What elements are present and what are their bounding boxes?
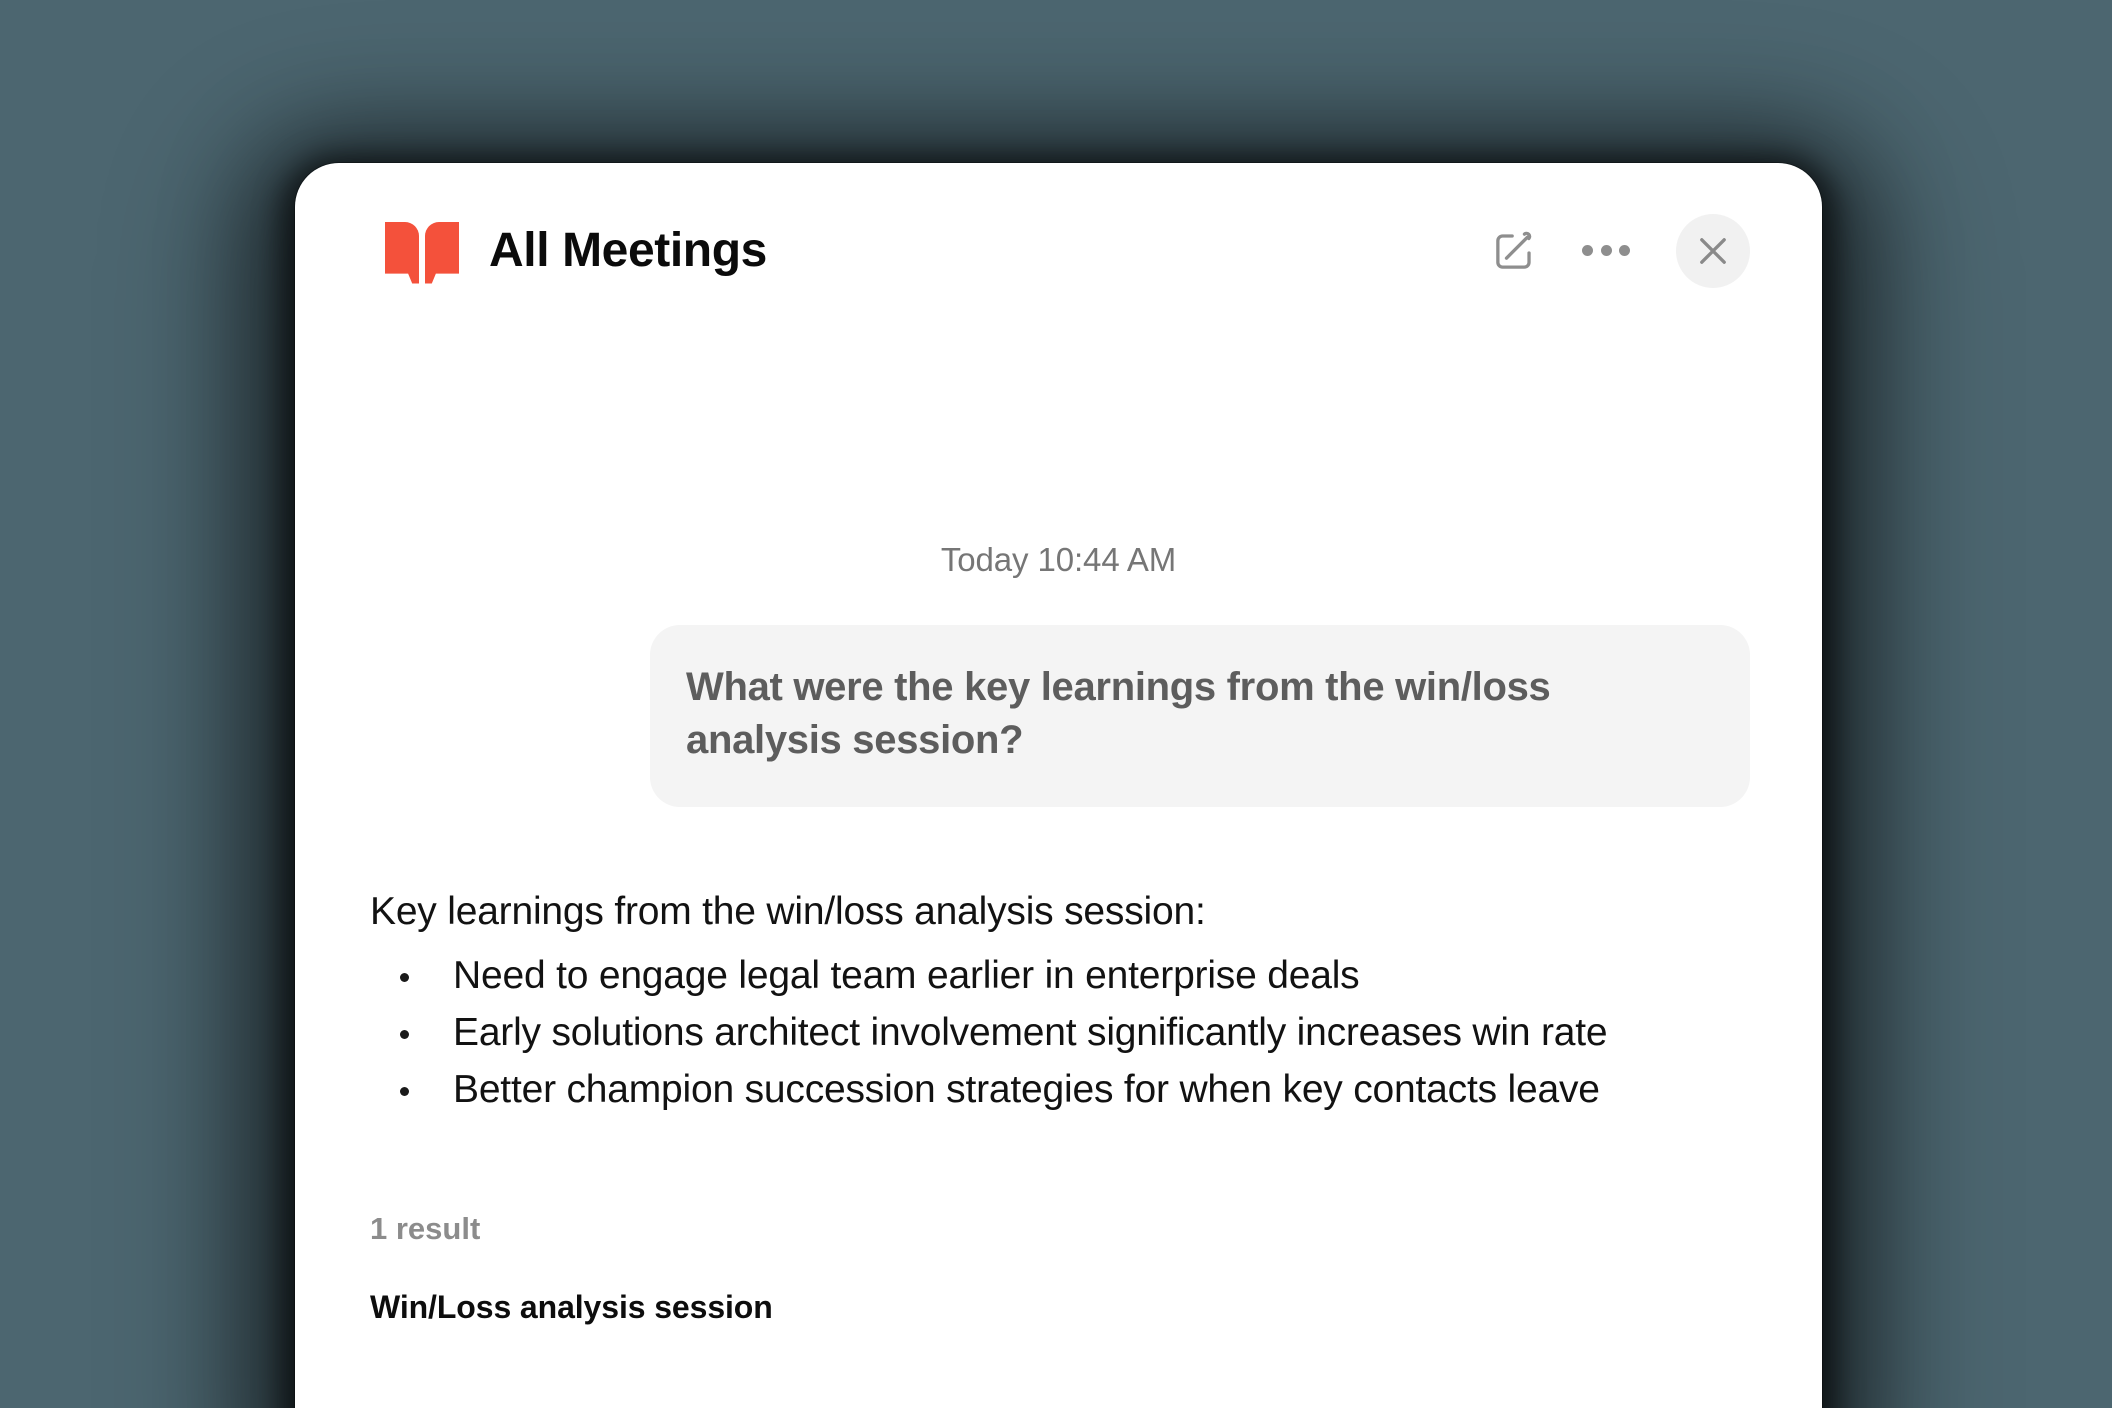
results-section: 1 result Win/Loss analysis session <box>370 1211 1770 1326</box>
assistant-answer: Key learnings from the win/loss analysis… <box>370 886 1770 1119</box>
list-item-text: Need to engage legal team earlier in ent… <box>453 954 1359 997</box>
bullet-dot-icon <box>400 973 409 982</box>
more-horizontal-icon <box>1582 241 1630 261</box>
answer-lead-text: Key learnings from the win/loss analysis… <box>370 886 1770 937</box>
user-question-text: What were the key learnings from the win… <box>686 661 1714 767</box>
result-item-link[interactable]: Win/Loss analysis session <box>370 1289 1770 1326</box>
close-icon <box>1692 230 1734 272</box>
close-button[interactable] <box>1676 214 1750 288</box>
open-book-icon <box>385 222 459 284</box>
more-options-button[interactable] <box>1582 241 1630 261</box>
header-title-group: All Meetings <box>385 218 767 284</box>
list-item: Better champion succession strategies fo… <box>370 1063 1770 1118</box>
list-item: Early solutions architect involvement si… <box>370 1006 1770 1061</box>
all-meetings-window: All Meetings Today 1 <box>295 163 1822 1408</box>
window-header: All Meetings <box>295 163 1822 338</box>
conversation-timestamp: Today 10:44 AM <box>295 541 1822 579</box>
open-book-icon-left-page <box>385 222 419 284</box>
open-book-icon-right-page <box>425 222 459 284</box>
list-item-text: Better champion succession strategies fo… <box>453 1068 1600 1111</box>
compose-icon <box>1492 229 1536 273</box>
page-title: All Meetings <box>489 227 767 275</box>
bullet-dot-icon <box>400 1087 409 1096</box>
user-question-bubble: What were the key learnings from the win… <box>650 625 1750 807</box>
result-count-label: 1 result <box>370 1211 1770 1247</box>
list-item-text: Early solutions architect involvement si… <box>453 1011 1607 1054</box>
answer-bullet-list: Need to engage legal team earlier in ent… <box>370 949 1770 1117</box>
list-item: Need to engage legal team earlier in ent… <box>370 949 1770 1004</box>
compose-button[interactable] <box>1492 229 1536 273</box>
bullet-dot-icon <box>400 1030 409 1039</box>
header-actions <box>1492 214 1750 288</box>
